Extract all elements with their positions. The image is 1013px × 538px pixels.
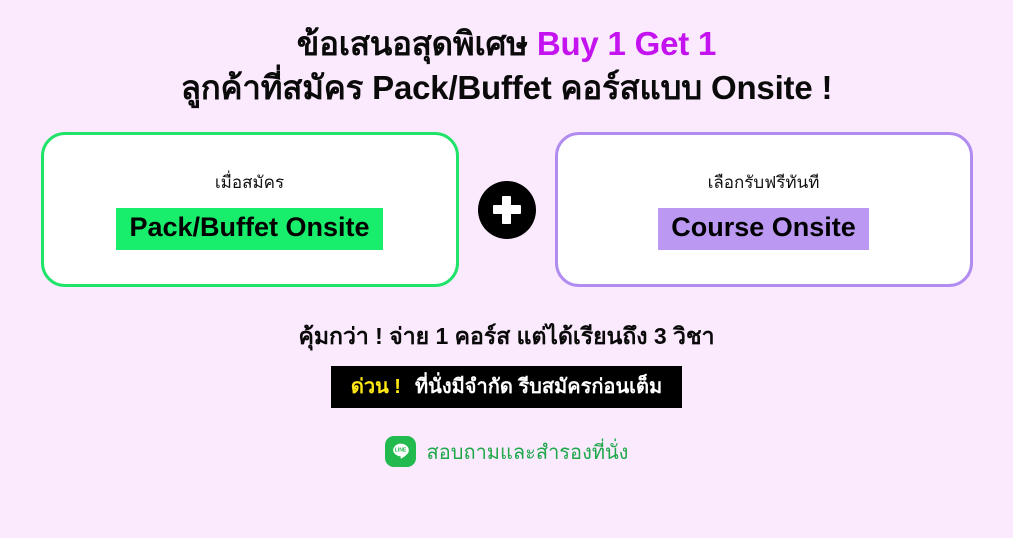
- offer-card-label-right: เลือกรับฟรีทันที: [708, 169, 820, 196]
- line-footer-text: สอบถามและสำรองที่นั่ง: [427, 436, 629, 468]
- headline-line-1-prefix: ข้อเสนอสุดพิเศษ: [297, 25, 537, 62]
- line-contact-footer[interactable]: LINE สอบถามและสำรองที่นั่ง: [385, 436, 629, 468]
- headline-line-1: ข้อเสนอสุดพิเศษ Buy 1 Get 1: [181, 24, 832, 64]
- value-proposition-line: คุ้มกว่า ! จ่าย 1 คอร์ส แต่ได้เรียนถึง 3…: [298, 319, 714, 355]
- urgency-accent-text: ด่วน !: [351, 370, 401, 402]
- offer-card-title-right: Course Onsite: [658, 208, 869, 249]
- headline-line-1-accent: Buy 1 Get 1: [537, 25, 716, 62]
- headline: ข้อเสนอสุดพิเศษ Buy 1 Get 1 ลูกค้าที่สมั…: [181, 24, 832, 109]
- promo-banner: ข้อเสนอสุดพิเศษ Buy 1 Get 1 ลูกค้าที่สมั…: [0, 0, 1013, 538]
- offer-card-title-left: Pack/Buffet Onsite: [116, 208, 382, 249]
- offer-card-course-onsite[interactable]: เลือกรับฟรีทันที Course Onsite: [555, 132, 973, 287]
- offer-card-pack-buffet[interactable]: เมื่อสมัคร Pack/Buffet Onsite: [41, 132, 459, 287]
- svg-text:LINE: LINE: [394, 448, 406, 454]
- urgency-bar: ด่วน ! ที่นั่งมีจำกัด รีบสมัครก่อนเต็ม: [331, 366, 682, 408]
- offer-cards-row: เมื่อสมัคร Pack/Buffet Onsite เลือกรับฟร…: [0, 131, 1013, 289]
- offer-card-label-left: เมื่อสมัคร: [215, 169, 284, 196]
- line-icon: LINE: [385, 436, 416, 467]
- headline-line-2: ลูกค้าที่สมัคร Pack/Buffet คอร์สแบบ Onsi…: [181, 68, 832, 108]
- plus-icon-bar-vertical: [502, 196, 511, 224]
- plus-icon: [478, 181, 536, 239]
- urgency-body-text: ที่นั่งมีจำกัด รีบสมัครก่อนเต็ม: [415, 370, 662, 402]
